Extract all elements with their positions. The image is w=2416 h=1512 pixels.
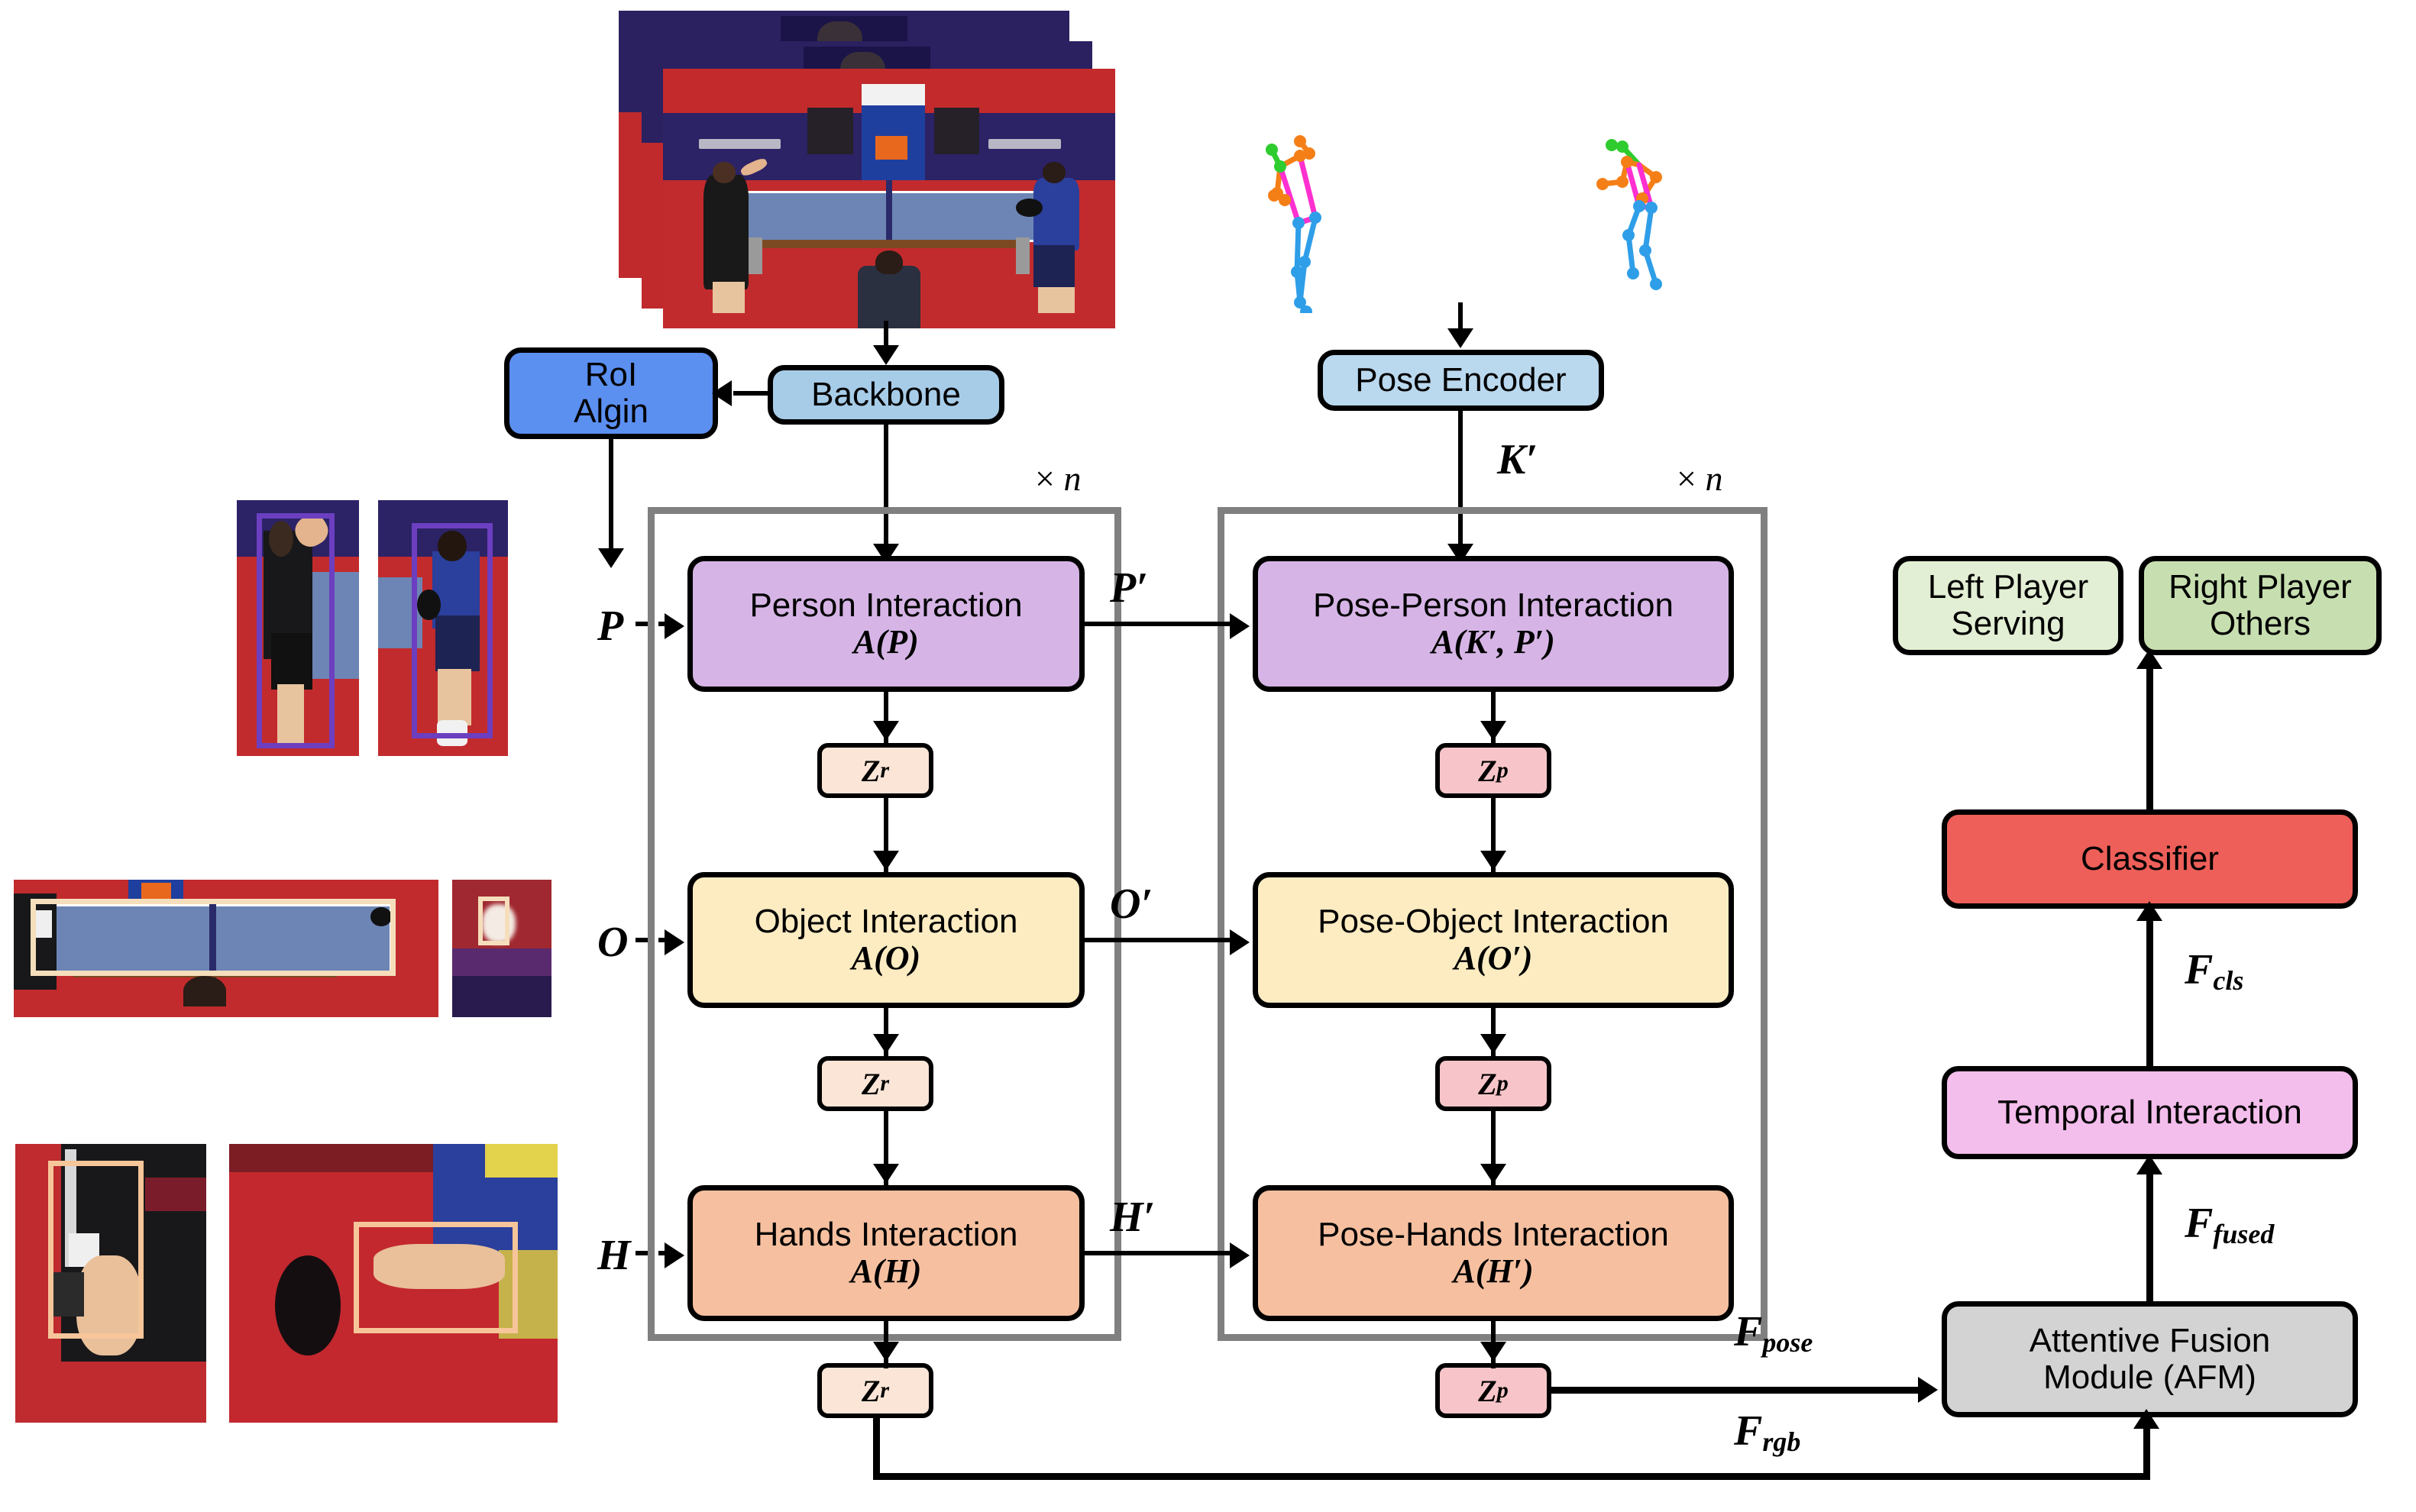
pose-person-to-zp1-arrow <box>1480 721 1506 741</box>
zp1-to-pose-object-arrow <box>1480 851 1506 871</box>
h-input-arrow <box>665 1242 684 1268</box>
hand-roi-crop-left <box>15 1144 206 1423</box>
backbone-box[interactable]: Backbone <box>768 365 1004 425</box>
pose-hands-interaction-box[interactable]: Pose-Hands Interaction A(H′) <box>1253 1185 1734 1321</box>
rgb-stream-times-n: × n <box>1035 458 1081 499</box>
zp2-to-pose-hands-arrow <box>1480 1164 1506 1184</box>
output-right-player-box[interactable]: Right Player Others <box>2139 556 2382 655</box>
classifier-box[interactable]: Classifier <box>1942 809 2358 909</box>
fcls-line <box>2146 909 2153 1071</box>
backbone-label: Backbone <box>811 376 961 413</box>
p-input-arrow <box>665 613 684 639</box>
roi-to-p-arrow <box>598 548 624 568</box>
fcls-arrow <box>2136 901 2162 921</box>
person-roi-crop-left <box>237 500 359 756</box>
edge-label-P: P <box>597 602 623 651</box>
temporal-interaction-box[interactable]: Temporal Interaction <box>1942 1066 2358 1159</box>
backbone-to-roi-line <box>733 391 771 396</box>
classifier-to-output-arrow <box>2136 649 2162 669</box>
pose-person-interaction-box[interactable]: Pose-Person Interaction A(K′, P′) <box>1253 556 1734 692</box>
fpose-arrow <box>1918 1377 1938 1403</box>
pose-encoder-box[interactable]: Pose Encoder <box>1318 350 1604 411</box>
hprime-arrow <box>1230 1242 1250 1268</box>
output-right-label-1: Right Player <box>2169 569 2352 606</box>
edge-label-Ffused: Ffused <box>2185 1199 2274 1250</box>
zr-box-1: Zr <box>817 743 933 798</box>
edge-label-Frgb: Frgb <box>1734 1407 1800 1458</box>
zp-box-3: Zp <box>1435 1363 1551 1418</box>
hprime-line <box>1085 1251 1234 1255</box>
edge-label-Fpose: Fpose <box>1734 1307 1813 1359</box>
pose-object-to-zp2-arrow <box>1480 1034 1506 1054</box>
person-interaction-label: Person Interaction <box>749 587 1022 624</box>
pose-skeleton-svg <box>1230 122 1673 313</box>
person-roi-crop-right <box>378 500 508 756</box>
hands-to-zr3-arrow <box>873 1342 899 1362</box>
frgb-down-line <box>873 1418 880 1478</box>
edge-label-Fcls: Fcls <box>2185 945 2243 997</box>
zp-box-1: Zp <box>1435 743 1551 798</box>
object-bbox-ball <box>478 897 510 946</box>
pose-object-interaction-formula: A(O′) <box>1454 940 1533 977</box>
hand-bbox <box>354 1222 518 1333</box>
object-interaction-label: Object Interaction <box>755 903 1018 940</box>
zr-box-2: Zr <box>817 1056 933 1111</box>
frgb-arrow <box>2133 1409 2159 1429</box>
object-to-zr2-arrow <box>873 1034 899 1054</box>
pose-stream-times-n: × n <box>1677 458 1722 499</box>
o-input-arrow <box>665 929 684 955</box>
hands-interaction-box[interactable]: Hands Interaction A(H) <box>687 1185 1085 1321</box>
afm-label-1: Attentive Fusion <box>2030 1323 2271 1359</box>
classifier-label: Classifier <box>2081 841 2219 877</box>
object-interaction-box[interactable]: Object Interaction A(O) <box>687 872 1085 1008</box>
fpose-line <box>1551 1387 1922 1394</box>
classifier-to-output-line <box>2146 658 2153 813</box>
afm-box[interactable]: Attentive Fusion Module (AFM) <box>1942 1301 2358 1417</box>
hands-interaction-formula: A(H) <box>851 1253 922 1290</box>
frgb-across-line <box>873 1473 2150 1480</box>
edge-label-H: H <box>597 1231 631 1280</box>
roi-align-label-1: RoI <box>585 357 637 393</box>
roi-align-label-2: Algin <box>574 393 648 430</box>
pose-skeleton-pair <box>1230 122 1673 313</box>
edge-label-Pprime: P′ <box>1110 564 1148 612</box>
hand-roi-crop-right <box>229 1144 558 1423</box>
backbone-to-roi-arrow <box>712 380 732 406</box>
zr1-to-object-arrow <box>873 851 899 871</box>
zr-box-3: Zr <box>817 1363 933 1418</box>
video-frame-stack <box>611 11 1130 331</box>
oprime-line <box>1085 938 1234 942</box>
pprime-arrow <box>1230 613 1250 639</box>
skeleton-to-encoder-arrow <box>1447 328 1473 348</box>
temporal-interaction-label: Temporal Interaction <box>1997 1094 2302 1131</box>
edge-label-Hprime: H′ <box>1110 1193 1155 1242</box>
frgb-up-line <box>2143 1422 2150 1477</box>
oprime-arrow <box>1230 929 1250 955</box>
person-bbox <box>412 523 492 738</box>
pose-person-interaction-label: Pose-Person Interaction <box>1313 587 1674 624</box>
pose-object-interaction-box[interactable]: Pose-Object Interaction A(O′) <box>1253 872 1734 1008</box>
roi-align-box[interactable]: RoI Algin <box>504 347 718 439</box>
ffused-line <box>2146 1162 2153 1304</box>
person-interaction-formula: A(P) <box>853 624 919 661</box>
zp-box-2: Zp <box>1435 1056 1551 1111</box>
pose-object-interaction-label: Pose-Object Interaction <box>1318 903 1669 940</box>
pose-person-interaction-formula: A(K′, P′) <box>1431 624 1555 661</box>
object-interaction-formula: A(O) <box>852 940 920 977</box>
pose-hands-interaction-label: Pose-Hands Interaction <box>1318 1216 1669 1253</box>
pose-encoder-label: Pose Encoder <box>1355 362 1566 399</box>
roi-to-p-line <box>609 439 613 554</box>
video-frame-1 <box>663 69 1115 328</box>
output-left-label-1: Left Player <box>1928 569 2088 606</box>
pose-hands-to-zp3-arrow <box>1480 1342 1506 1362</box>
zr2-to-hands-arrow <box>873 1164 899 1184</box>
object-roi-crop-ball <box>452 880 551 1017</box>
output-left-label-2: Serving <box>1951 606 2065 642</box>
person-to-zr1-arrow <box>873 721 899 741</box>
edge-label-O: O <box>597 918 628 967</box>
pprime-line <box>1085 622 1234 626</box>
afm-label-2: Module (AFM) <box>2043 1359 2256 1396</box>
ffused-arrow <box>2136 1155 2162 1174</box>
pose-hands-interaction-formula: A(H′) <box>1453 1253 1533 1290</box>
edge-label-Kprime: K′ <box>1497 435 1538 484</box>
output-left-player-box[interactable]: Left Player Serving <box>1893 556 2123 655</box>
frames-to-backbone-arrow <box>873 345 899 365</box>
person-interaction-box[interactable]: Person Interaction A(P) <box>687 556 1085 692</box>
output-right-label-2: Others <box>2210 606 2311 642</box>
person-bbox <box>257 513 335 748</box>
hands-interaction-label: Hands Interaction <box>755 1216 1018 1253</box>
object-bbox-table <box>31 899 396 976</box>
edge-label-Oprime: O′ <box>1110 880 1153 929</box>
hand-bbox <box>48 1161 144 1339</box>
object-roi-crop-table <box>14 880 438 1017</box>
